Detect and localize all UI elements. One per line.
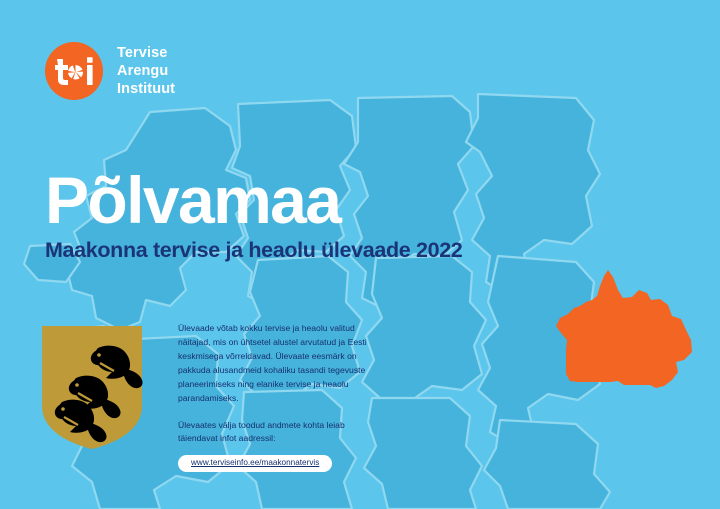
organization-name: Tervise Arengu Instituut bbox=[117, 44, 175, 99]
intro-paragraph-2: Ülevaates välja toodud andmete kohta lei… bbox=[178, 419, 374, 447]
page-subtitle: Maakonna tervise ja heaolu ülevaade 2022 bbox=[45, 240, 462, 262]
website-url-pill[interactable]: www.terviseinfo.ee/maakonnatervis bbox=[178, 455, 332, 471]
cover-page: Tervise Arengu Instituut Põlvamaa Maakon… bbox=[0, 0, 720, 509]
intro-copy: Ülevaade võtab kokku tervise ja heaolu v… bbox=[178, 322, 374, 472]
coat-of-arms bbox=[40, 324, 144, 451]
intro-paragraph-1: Ülevaade võtab kokku tervise ja heaolu v… bbox=[178, 322, 374, 406]
page-title: Põlvamaa bbox=[45, 167, 340, 233]
tai-logo-mark-icon bbox=[45, 42, 103, 100]
tai-logo[interactable]: Tervise Arengu Instituut bbox=[45, 42, 175, 100]
